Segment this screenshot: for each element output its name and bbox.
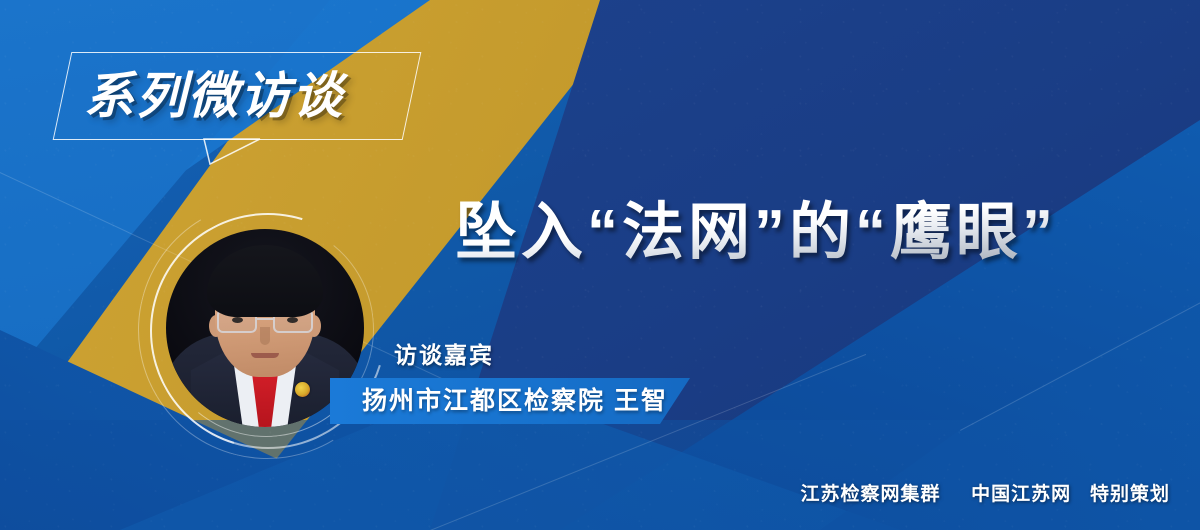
page-title: 坠入“法网”的“鹰眼” (455, 196, 1057, 270)
footer-group: 江苏检察网集群 (801, 479, 941, 506)
prosecutor-badge-icon (295, 382, 310, 397)
portrait-mouth (251, 353, 279, 358)
glasses-bridge (257, 318, 273, 320)
interview-banner: 系列微访谈 坠入“法网”的“鹰眼” (0, 0, 1200, 530)
guest-label: 访谈嘉宾 (394, 336, 494, 370)
footer-credits: 江苏检察网集群 中国江苏网 特别策划 (801, 479, 1170, 506)
bubble-tail-icon (202, 138, 262, 168)
guest-name-text: 扬州市江都区检察院 王智 (362, 378, 668, 424)
portrait-nose (260, 327, 270, 345)
footer-site: 中国江苏网 (971, 479, 1071, 506)
footer-tagline: 特别策划 (1090, 479, 1170, 506)
series-label-bubble: 系列微访谈 (62, 52, 412, 140)
portrait-hair (207, 245, 323, 317)
series-label-text: 系列微访谈 (84, 54, 414, 138)
footer-gap-2 (1077, 484, 1083, 506)
